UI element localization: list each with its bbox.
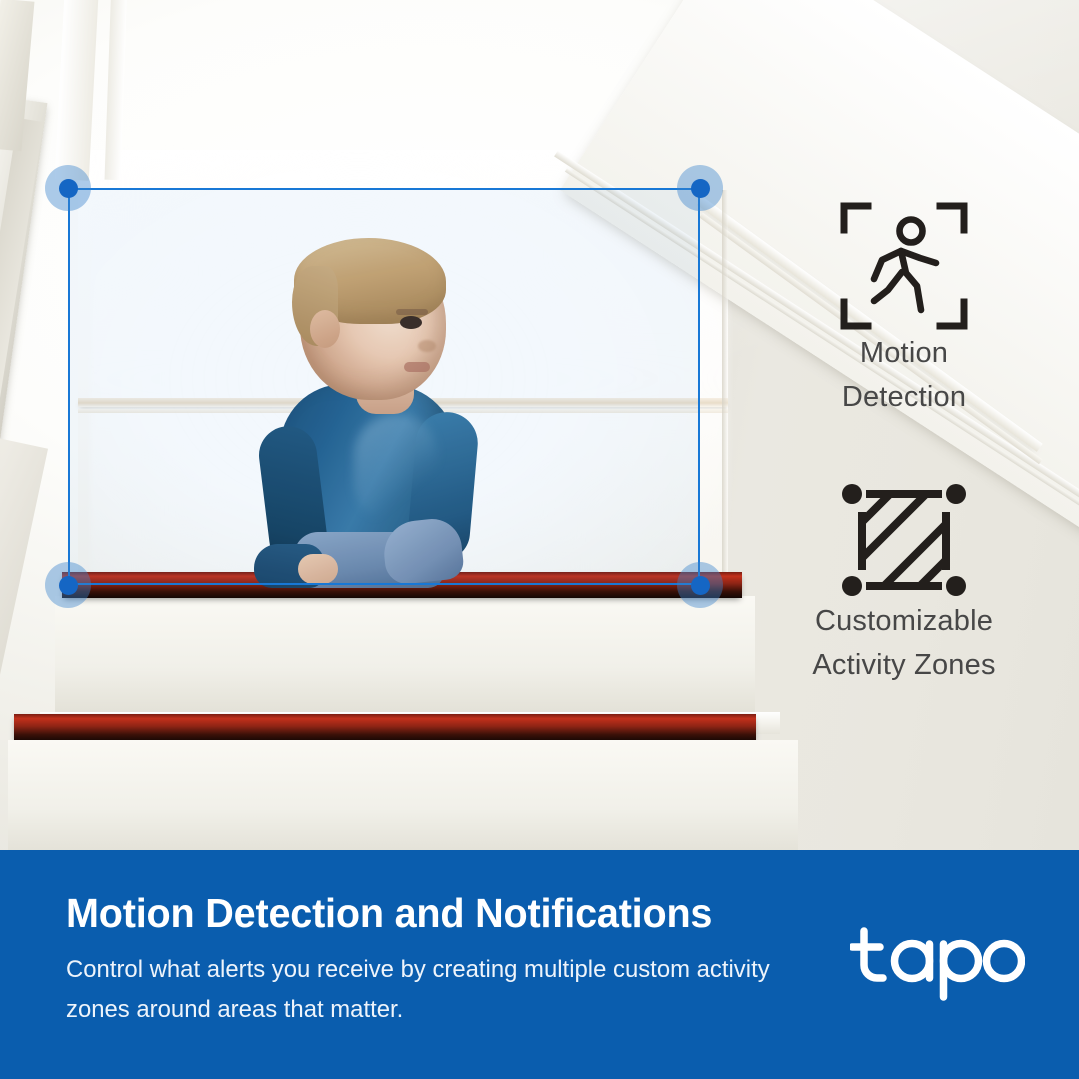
zone-handle-top-left[interactable]: [45, 165, 91, 211]
feature-zones-label-line1: Customizable: [754, 600, 1054, 644]
tapo-logo: [850, 925, 1025, 1003]
banner-title: Motion Detection and Notifications: [66, 890, 712, 937]
feature-motion-detection: Motion Detection: [754, 200, 1054, 419]
promo-page: Motion Detection: [0, 0, 1079, 1079]
detection-zone-rectangle[interactable]: [68, 188, 700, 585]
motion-detection-icon-wrap: [754, 200, 1054, 332]
activity-zones-icon: [842, 482, 966, 600]
zone-handle-bottom-left[interactable]: [45, 562, 91, 608]
activity-zones-icon-wrap: [754, 482, 1054, 600]
zone-handle-bottom-right[interactable]: [677, 562, 723, 608]
feature-motion-label-line1: Motion: [754, 332, 1054, 376]
feature-motion-label-line2: Detection: [754, 376, 1054, 420]
stair-riser-upper: [55, 596, 755, 714]
wall-corner-edge: [722, 190, 728, 590]
motion-detection-icon: [838, 200, 970, 332]
banner-subtitle: Control what alerts you receive by creat…: [66, 950, 778, 1029]
stair-riser-lower: [8, 740, 798, 850]
feature-activity-zones: Customizable Activity Zones: [754, 482, 1054, 687]
stair-nosing-lower: [14, 714, 756, 742]
camera-scene-photo: Motion Detection: [0, 0, 1079, 850]
tapo-wordmark: [850, 925, 1025, 1003]
zone-handle-top-right[interactable]: [677, 165, 723, 211]
feature-zones-label-line2: Activity Zones: [754, 644, 1054, 688]
